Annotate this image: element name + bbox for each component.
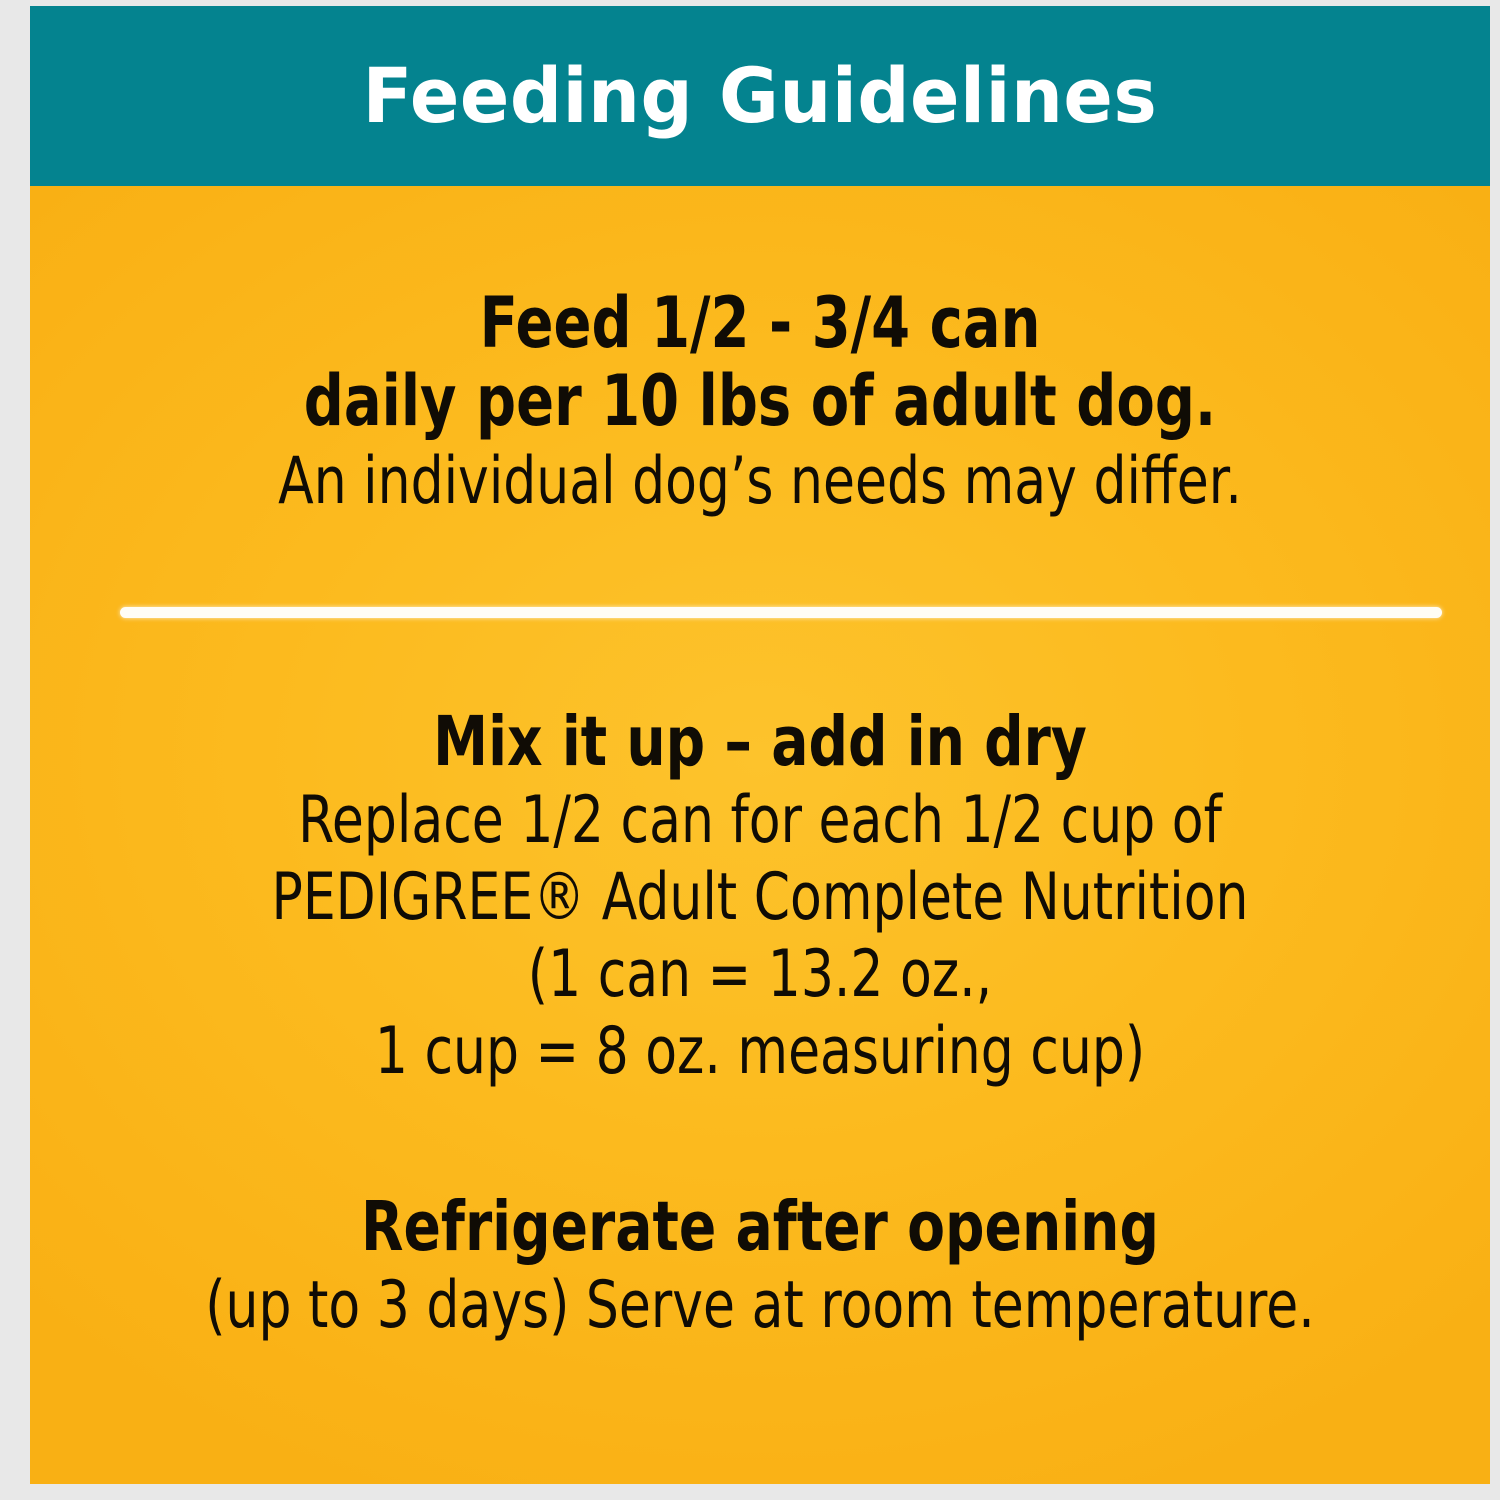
mix-it-up-section: Mix it up – add in dry Replace 1/2 can f… [30, 706, 1490, 1087]
page-title: Feeding Guidelines [363, 58, 1158, 134]
mix-it-up-line-2: PEDIGREE® Adult Complete Nutrition [176, 864, 1344, 933]
mix-it-up-line-1: Replace 1/2 can for each 1/2 cup of [176, 787, 1344, 856]
feeding-amount-line-3: An individual dog’s needs may differ. [176, 448, 1344, 517]
header-band: Feeding Guidelines [30, 6, 1490, 186]
mix-it-up-line-4: 1 cup = 8 oz. measuring cup) [176, 1018, 1344, 1087]
feeding-amount-line-1: Feed 1/2 - 3/4 can [176, 286, 1344, 360]
mix-it-up-heading: Mix it up – add in dry [176, 706, 1344, 779]
feeding-guidelines-label: Feeding Guidelines Feed 1/2 - 3/4 can da… [30, 6, 1490, 1484]
section-divider [120, 607, 1442, 618]
feeding-amount-section: Feed 1/2 - 3/4 can daily per 10 lbs of a… [30, 286, 1490, 517]
label-body: Feed 1/2 - 3/4 can daily per 10 lbs of a… [30, 186, 1490, 1484]
feeding-amount-line-2: daily per 10 lbs of adult dog. [176, 364, 1344, 438]
refrigerate-line-1: (up to 3 days) Serve at room temperature… [176, 1272, 1344, 1341]
mix-it-up-line-3: (1 can = 13.2 oz., [176, 941, 1344, 1010]
refrigerate-section: Refrigerate after opening (up to 3 days)… [30, 1191, 1490, 1341]
refrigerate-heading: Refrigerate after opening [176, 1191, 1344, 1264]
